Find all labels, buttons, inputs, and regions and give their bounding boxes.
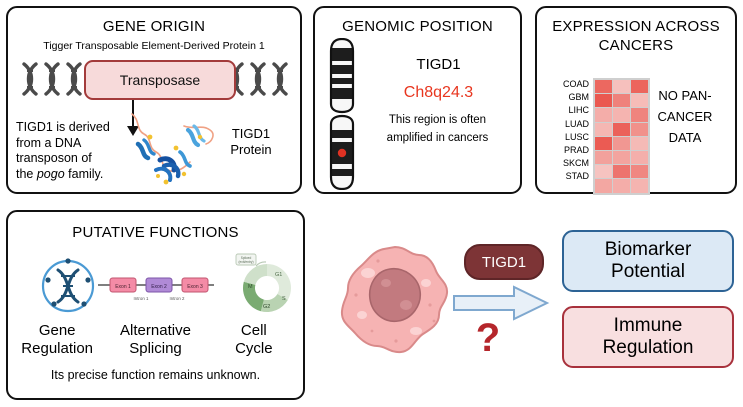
heatmap-row-labels: COADGBMLIHCLUADLUSCPRADSKCMSTAD xyxy=(549,78,593,184)
function-label-line2: Splicing xyxy=(129,340,182,357)
heatmap-cell xyxy=(613,151,630,164)
svg-text:G1: G1 xyxy=(275,272,282,278)
heatmap-row-label: COAD xyxy=(549,78,593,91)
heatmap-cell xyxy=(613,94,630,107)
gene-full-name: Tigger Transposable Element-Derived Prot… xyxy=(8,40,300,52)
expr-note-line1: NO PAN- xyxy=(658,88,711,103)
origin-note-line2: from a DNA xyxy=(16,136,81,150)
svg-text:Intron 1: Intron 1 xyxy=(134,296,149,301)
heatmap-cell xyxy=(613,165,630,178)
svg-text:G2: G2 xyxy=(263,304,270,310)
protein-label: TIGD1 Protein xyxy=(212,126,290,159)
heatmap-row-label: LUSC xyxy=(549,131,593,144)
cell-cycle-icon: G1 S G2 M Spliced (exit/entry) xyxy=(234,252,300,318)
svg-text:Exon 3: Exon 3 xyxy=(187,284,203,290)
position-gene-name: TIGD1 xyxy=(363,56,514,73)
panel-genomic-position: GENOMIC POSITION TIGD1 Ch8q24.3 This reg… xyxy=(313,6,522,194)
origin-note-line4-pre: the xyxy=(16,167,37,181)
function-label-line1: Cell xyxy=(241,322,267,339)
heatmap-row-label: SKCM xyxy=(549,157,593,170)
gene-regulation-icon xyxy=(36,254,100,318)
svg-text:Exon 1: Exon 1 xyxy=(115,284,131,290)
alternative-splicing-icon: Exon 1 Exon 2 Exon 3 Intron 1 Intron 2 xyxy=(96,270,216,308)
heatmap-cell xyxy=(613,80,630,93)
heatmap-cell xyxy=(595,179,612,192)
outcome-line2: Regulation xyxy=(603,337,694,358)
protein-label-line2: Protein xyxy=(230,142,271,157)
protein-label-line1: TIGD1 xyxy=(232,126,270,141)
function-labels: Gene Regulation Alternative Splicing Cel… xyxy=(8,322,303,358)
outcome-biomarker-potential: Biomarker Potential xyxy=(562,230,734,292)
svg-text:M: M xyxy=(248,284,253,290)
heatmap-row-label: STAD xyxy=(549,170,593,183)
outcome-line2: Potential xyxy=(611,261,685,282)
function-label-cell-cycle: Cell Cycle xyxy=(205,322,303,358)
origin-note: TIGD1 is derived from a DNA transposon o… xyxy=(16,120,116,183)
dna-transposase-row: Transposase xyxy=(18,58,294,100)
heatmap-cell xyxy=(613,137,630,150)
heatmap-row-label: PRAD xyxy=(549,144,593,157)
cytoband-label: Ch8q24.3 xyxy=(363,84,514,102)
position-description-line1: This region is often xyxy=(389,114,486,126)
panel-putative-functions: PUTATIVE FUNCTIONS Exon 1 Ex xyxy=(6,210,305,400)
outcome-immune-regulation: Immune Regulation xyxy=(562,306,734,368)
position-description: This region is often amplified in cancer… xyxy=(361,112,514,148)
svg-text:(exit/entry): (exit/entry) xyxy=(238,260,253,264)
cell-nucleus xyxy=(370,269,421,322)
svg-text:Exon 2: Exon 2 xyxy=(151,284,167,290)
dna-helix-icon xyxy=(20,62,86,96)
heatmap-cell xyxy=(613,123,630,136)
right-arrow-icon xyxy=(452,285,550,321)
heatmap-cell xyxy=(595,137,612,150)
position-description-line2: amplified in cancers xyxy=(387,132,489,144)
heatmap-cell xyxy=(613,108,630,121)
tumor-cell-icon xyxy=(338,243,452,357)
expr-note-line3: DATA xyxy=(669,130,702,145)
expr-note-line2: CANCER xyxy=(658,109,713,124)
svg-text:S: S xyxy=(282,296,286,302)
outcome-line1: Immune xyxy=(614,315,683,336)
heatmap-cell xyxy=(613,179,630,192)
chromosome-ideogram-icon xyxy=(329,38,355,190)
function-label-line2: Cycle xyxy=(235,340,273,357)
origin-note-line4-post: family. xyxy=(65,167,104,181)
question-mark-icon: ? xyxy=(468,318,508,358)
function-label-line1: Gene xyxy=(39,322,76,339)
panel-title-genomic-position: GENOMIC POSITION xyxy=(315,18,520,35)
heatmap-cell xyxy=(631,165,648,178)
heatmap-cell xyxy=(595,80,612,93)
tigd1-gene-pill: TIGD1 xyxy=(464,244,544,280)
function-label-gene-regulation: Gene Regulation xyxy=(8,322,106,358)
cell-cycle-callout-icon: Spliced (exit/entry) xyxy=(236,254,266,266)
heatmap-row-label: LUAD xyxy=(549,118,593,131)
function-label-line1: Alternative xyxy=(120,322,191,339)
expression-heatmap: COADGBMLIHCLUADLUSCPRADSKCMSTAD xyxy=(549,78,650,195)
heatmap-cell xyxy=(631,151,648,164)
heatmap-row-label: LIHC xyxy=(549,104,593,117)
function-label-line2: Regulation xyxy=(21,340,93,357)
function-icon-row: Exon 1 Exon 2 Exon 3 Intron 1 Intron 2 G… xyxy=(8,252,303,324)
heatmap-cell xyxy=(595,151,612,164)
origin-note-line1: TIGD1 is derived xyxy=(16,120,110,134)
expression-title-line1: EXPRESSION ACROSS xyxy=(552,18,720,35)
pogo-family-emphasis: pogo xyxy=(37,167,65,181)
panel-title-expression: EXPRESSION ACROSS CANCERS xyxy=(537,18,735,56)
heatmap-cell xyxy=(595,94,612,107)
heatmap-cell xyxy=(595,165,612,178)
heatmap-row-label: GBM xyxy=(549,91,593,104)
locus-dot-icon xyxy=(338,149,346,157)
panel-expression-across-cancers: EXPRESSION ACROSS CANCERS COADGBMLIHCLUA… xyxy=(535,6,737,194)
heatmap-cell xyxy=(595,108,612,121)
outcome-line1: Biomarker xyxy=(605,239,692,260)
heatmap-cell xyxy=(595,123,612,136)
svg-text:Intron 2: Intron 2 xyxy=(170,296,185,301)
transposase-box: Transposase xyxy=(84,60,236,100)
no-pan-cancer-data-note: NO PAN- CANCER DATA xyxy=(643,86,727,148)
heatmap-cell xyxy=(631,179,648,192)
panel-gene-origin: GENE ORIGIN Tigger Transposable Element-… xyxy=(6,6,302,194)
function-label-alternative-splicing: Alternative Splicing xyxy=(106,322,204,358)
origin-note-line3: transposon of xyxy=(16,151,92,165)
heatmap-grid xyxy=(593,78,650,195)
expression-title-line2: CANCERS xyxy=(599,37,674,54)
panel-title-putative-functions: PUTATIVE FUNCTIONS xyxy=(8,224,303,241)
panel-title-gene-origin: GENE ORIGIN xyxy=(8,18,300,35)
functions-footer-note: Its precise function remains unknown. xyxy=(8,368,303,382)
protein-structure-icon xyxy=(114,104,224,192)
